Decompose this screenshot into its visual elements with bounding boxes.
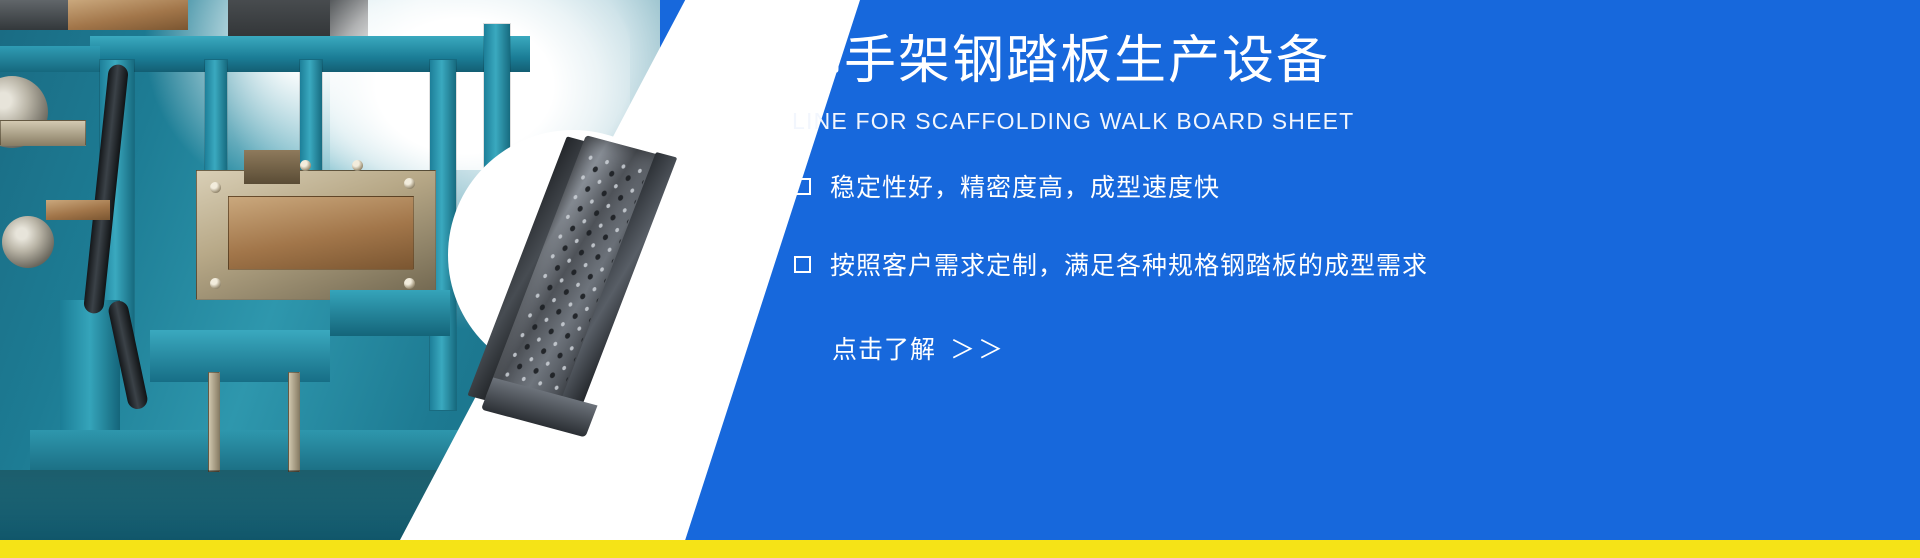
cta-link[interactable]: 点击了解 ＞＞ (832, 330, 1006, 366)
feature-text: 稳定性好，精密度高，成型速度快 (830, 168, 1220, 204)
machine-part (244, 150, 300, 184)
feature-list: 稳定性好，精密度高，成型速度快 按照客户需求定制，满足各种规格钢踏板的成型需求 (794, 168, 1794, 324)
machine-frame-post (205, 60, 227, 180)
product-image (505, 140, 695, 430)
bolt-icon (300, 160, 311, 171)
banner-title: 脚手架钢踏板生产设备 (790, 32, 1330, 92)
machine-die-insert (228, 196, 414, 270)
handwheel (2, 216, 54, 268)
machine-rod (0, 120, 86, 146)
cta-label: 点击了解 (832, 330, 936, 366)
machine-frame-beam (330, 290, 450, 336)
machine-part (46, 200, 110, 220)
machine-frame-beam (0, 46, 100, 72)
machine-part (68, 0, 188, 30)
machine-frame-beam (150, 330, 330, 382)
square-bullet-icon (794, 256, 811, 273)
feature-text: 按照客户需求定制，满足各种规格钢踏板的成型需求 (830, 246, 1428, 282)
bolt-icon (404, 278, 415, 289)
bottom-accent-bar (0, 540, 1920, 558)
feature-item: 按照客户需求定制，满足各种规格钢踏板的成型需求 (794, 246, 1794, 282)
bolt-icon (352, 160, 363, 171)
bolt-icon (210, 182, 221, 193)
feature-item: 稳定性好，精密度高，成型速度快 (794, 168, 1794, 204)
bolt-icon (210, 278, 221, 289)
steel-walk-board (471, 120, 730, 449)
machine-part (0, 0, 70, 30)
chevron-right-icon: ＞＞ (950, 330, 1006, 366)
square-bullet-icon (794, 178, 811, 195)
promo-banner: 脚手架钢踏板生产设备 LINE FOR SCAFFOLDING WALK BOA… (0, 0, 1920, 558)
bolt-icon (404, 178, 415, 189)
banner-subtitle: LINE FOR SCAFFOLDING WALK BOARD SHEET (792, 108, 1354, 135)
machine-rod (208, 372, 220, 472)
machine-rod (288, 372, 300, 472)
banner-content: 脚手架钢踏板生产设备 LINE FOR SCAFFOLDING WALK BOA… (790, 0, 1920, 540)
